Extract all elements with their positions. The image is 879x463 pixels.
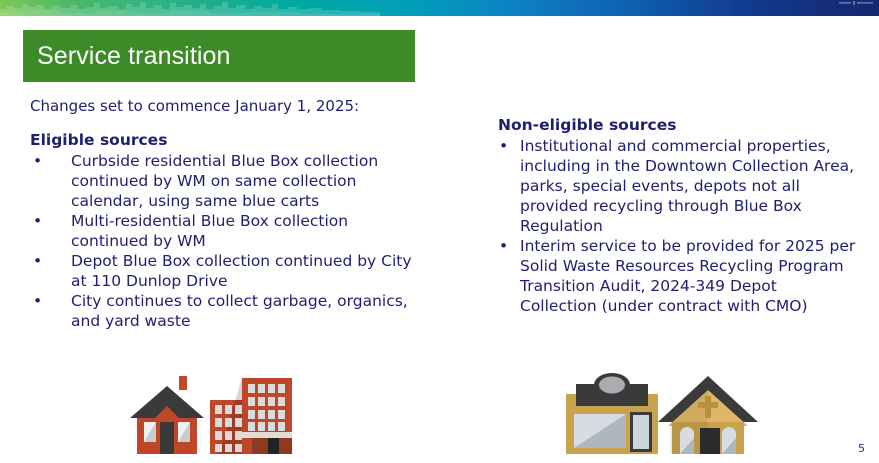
bullet-dot-icon: •	[33, 291, 42, 311]
eligible-sources-heading: Eligible sources	[30, 130, 430, 150]
list-item: • City continues to collect garbage, org…	[30, 291, 430, 331]
list-item-text: Depot Blue Box collection continued by C…	[71, 252, 412, 290]
slide-service-transition: Service transition Changes set to commen…	[0, 0, 879, 463]
non-eligible-sources-column: Non-eligible sources • Institutional and…	[498, 115, 858, 316]
list-item: • Curbside residential Blue Box collecti…	[30, 151, 430, 211]
bullet-dot-icon: •	[33, 251, 42, 271]
non-eligible-sources-heading: Non-eligible sources	[498, 115, 858, 135]
residential-buildings-graphic	[124, 372, 294, 458]
house-icon	[130, 376, 204, 454]
list-item: • Institutional and commercial propertie…	[498, 136, 858, 236]
list-item-text: Multi-residential Blue Box collection co…	[71, 212, 348, 250]
commercial-institutional-graphic	[558, 372, 758, 458]
eligible-sources-column: Eligible sources • Curbside residential …	[30, 130, 430, 331]
page-number: 5	[858, 442, 865, 455]
eligible-sources-illustration	[124, 372, 294, 462]
list-item-text: Interim service to be provided for 2025 …	[520, 237, 855, 315]
non-eligible-sources-list: • Institutional and commercial propertie…	[498, 136, 858, 316]
list-item: • Depot Blue Box collection continued by…	[30, 251, 430, 291]
list-item-text: Institutional and commercial properties,…	[520, 137, 854, 235]
list-item: • Multi-residential Blue Box collection …	[30, 211, 430, 251]
list-item-text: Curbside residential Blue Box collection…	[71, 152, 378, 210]
bullet-dot-icon: •	[499, 236, 508, 256]
list-item-text: City continues to collect garbage, organ…	[71, 292, 408, 330]
apartment-building-icon	[210, 378, 292, 454]
bullet-dot-icon: •	[33, 151, 42, 171]
list-item: • Interim service to be provided for 202…	[498, 236, 858, 316]
storefront-icon	[566, 373, 658, 454]
eligible-sources-list: • Curbside residential Blue Box collecti…	[30, 151, 430, 331]
bullet-dot-icon: •	[33, 211, 42, 231]
slide-title-bar: Service transition	[23, 30, 415, 82]
top-gradient-banner	[0, 0, 879, 16]
church-icon	[658, 376, 758, 454]
city-skyline-graphic	[0, 0, 380, 16]
bullet-dot-icon: •	[499, 136, 508, 156]
corporate-logo-mark	[839, 1, 873, 6]
intro-line: Changes set to commence January 1, 2025:	[30, 97, 359, 116]
non-eligible-sources-illustration	[558, 372, 758, 462]
page-title: Service transition	[23, 42, 231, 71]
